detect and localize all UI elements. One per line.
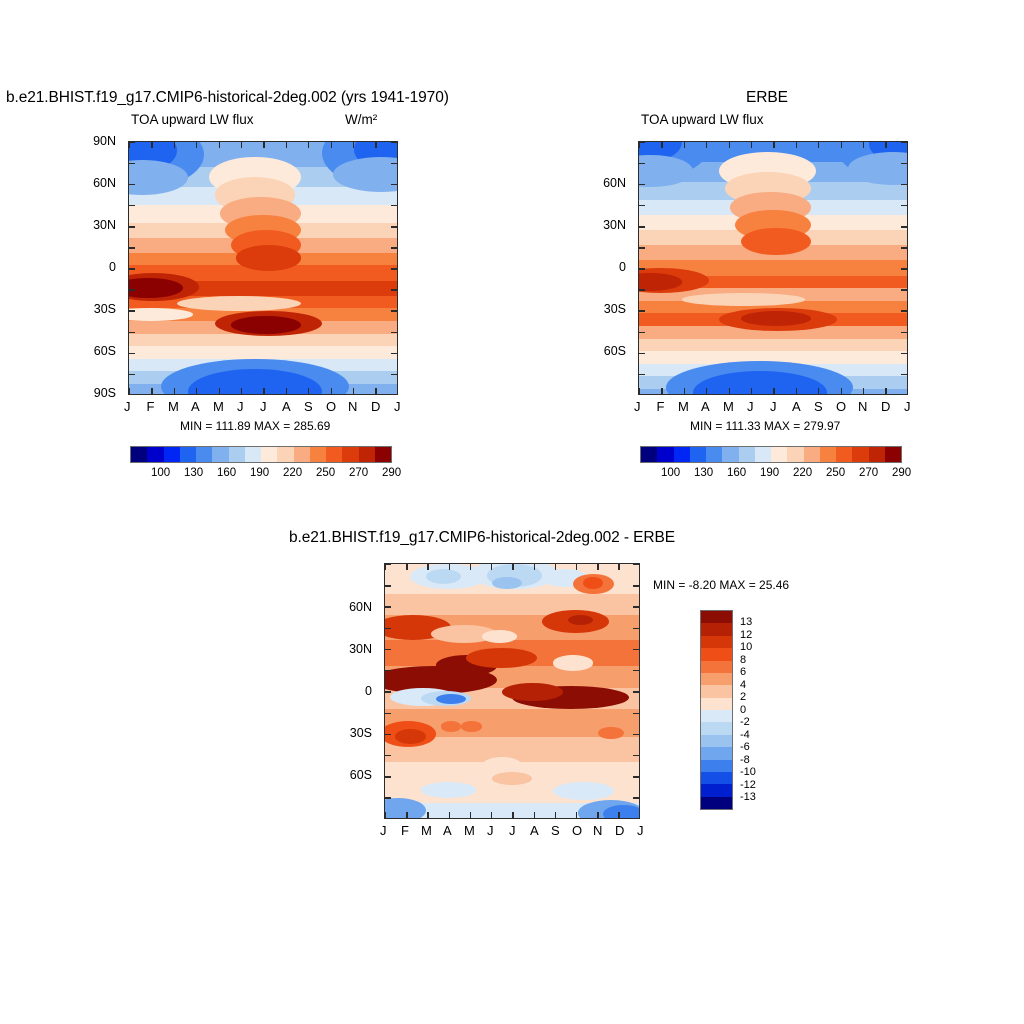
month-label: N (593, 823, 602, 838)
axis-tick (633, 734, 639, 735)
model-panel-title: b.e21.BHIST.f19_g17.CMIP6-historical-2de… (6, 89, 449, 107)
axis-tick (639, 289, 645, 290)
axis-tick (576, 812, 577, 818)
month-label: J (380, 823, 387, 838)
axis-tick (353, 388, 354, 394)
axis-tick (151, 142, 152, 148)
axis-tick (129, 268, 135, 269)
axis-tick (597, 564, 598, 570)
month-label: S (814, 399, 823, 414)
month-label: D (881, 399, 890, 414)
axis-tick (129, 163, 135, 164)
axis-tick (391, 332, 397, 333)
axis-tick (391, 184, 397, 185)
axis-tick (633, 713, 639, 714)
diff-ylabel: 30S (350, 726, 372, 740)
axis-tick (385, 649, 391, 650)
axis-tick (863, 388, 864, 394)
axis-tick (639, 268, 645, 269)
colorbar-tick-label: 100 (661, 467, 680, 479)
axis-tick (391, 310, 397, 311)
axis-tick (751, 388, 752, 394)
axis-tick (773, 388, 774, 394)
axis-tick (639, 163, 645, 164)
model-units-label: W/m² (345, 112, 377, 127)
axis-tick (391, 205, 397, 206)
diff-month-axis: J F M A M J J A S O N D J (384, 823, 640, 843)
axis-tick (385, 755, 391, 756)
axis-tick (773, 142, 774, 148)
obs-panel-subtitle: TOA upward LW flux (641, 112, 764, 127)
diff-minmax-text: MIN = -8.20 MAX = 25.46 (653, 578, 789, 592)
diff-ylabel: 60S (350, 768, 372, 782)
axis-tick (863, 142, 864, 148)
month-label: A (282, 399, 291, 414)
axis-tick (385, 628, 391, 629)
axis-tick (391, 226, 397, 227)
axis-tick (901, 289, 907, 290)
axis-tick (597, 812, 598, 818)
month-label: J (260, 399, 267, 414)
model-colorbar-labels: 100 130 160 190 220 250 270 290 (130, 467, 392, 483)
axis-tick (729, 388, 730, 394)
month-label: J (394, 399, 401, 414)
axis-tick (639, 353, 645, 354)
diff-colorbar (700, 610, 733, 810)
month-label: J (770, 399, 777, 414)
axis-tick (901, 184, 907, 185)
month-label: D (615, 823, 624, 838)
axis-tick (796, 142, 797, 148)
axis-tick (219, 142, 220, 148)
axis-tick (449, 812, 450, 818)
diff-colorbar-labels: 13 12 10 8 6 4 2 0 -2 -4 -6 -8 -10 -12 -… (740, 610, 780, 810)
colorbar-tick-label: 6 (740, 666, 746, 678)
month-label: F (657, 399, 665, 414)
axis-tick (633, 564, 639, 565)
axis-tick (576, 564, 577, 570)
axis-tick (512, 812, 513, 818)
axis-tick (375, 142, 376, 148)
axis-tick (470, 564, 471, 570)
month-label: S (551, 823, 560, 838)
obs-contour-plot (638, 141, 908, 395)
axis-tick (129, 388, 130, 394)
month-label: N (858, 399, 867, 414)
axis-tick (427, 564, 428, 570)
axis-tick (391, 374, 397, 375)
month-label: O (836, 399, 846, 414)
month-label: A (443, 823, 452, 838)
axis-tick (449, 564, 450, 570)
axis-tick (639, 184, 645, 185)
month-label: M (421, 823, 432, 838)
diff-ylabel: 30N (349, 642, 372, 656)
axis-tick (129, 226, 135, 227)
model-ylabel: 60N (93, 176, 116, 190)
month-label: A (701, 399, 710, 414)
axis-tick (639, 247, 645, 248)
model-ylabel: 90N (93, 134, 116, 148)
axis-tick (633, 670, 639, 671)
axis-tick (331, 388, 332, 394)
month-label: J (124, 399, 131, 414)
obs-ylabel: 60N (603, 176, 626, 190)
axis-tick (491, 564, 492, 570)
colorbar-tick-label: -10 (740, 766, 756, 778)
axis-tick (633, 585, 639, 586)
colorbar-tick-label: 12 (740, 629, 752, 641)
axis-tick (427, 812, 428, 818)
axis-tick (841, 142, 842, 148)
colorbar-tick-label: -8 (740, 754, 750, 766)
axis-tick (286, 142, 287, 148)
axis-tick (618, 812, 619, 818)
axis-tick (639, 374, 645, 375)
model-ylabel: 90S (94, 386, 116, 400)
month-label: A (530, 823, 539, 838)
axis-tick (174, 142, 175, 148)
axis-tick (129, 205, 135, 206)
axis-tick (639, 332, 645, 333)
colorbar-tick-label: 290 (892, 467, 911, 479)
colorbar-tick-label: 2 (740, 691, 746, 703)
axis-tick (385, 585, 391, 586)
axis-tick (406, 564, 407, 570)
obs-colorbar-labels: 100 130 160 190 220 250 270 290 (640, 467, 902, 483)
axis-tick (885, 388, 886, 394)
obs-panel-title: ERBE (746, 89, 788, 107)
axis-tick (391, 289, 397, 290)
colorbar-tick-label: 10 (740, 641, 752, 653)
colorbar-tick-label: 13 (740, 616, 752, 628)
month-label: J (747, 399, 754, 414)
axis-tick (129, 374, 135, 375)
colorbar-tick-label: -4 (740, 729, 750, 741)
colorbar-tick-label: 130 (184, 467, 203, 479)
axis-tick (512, 564, 513, 570)
axis-tick (534, 564, 535, 570)
axis-tick (308, 142, 309, 148)
axis-tick (639, 226, 645, 227)
axis-tick (385, 713, 391, 714)
axis-tick (385, 776, 391, 777)
obs-minmax-text: MIN = 111.33 MAX = 279.97 (690, 419, 840, 433)
obs-ylabel: 30S (604, 302, 626, 316)
diff-ylabel: 60N (349, 600, 372, 614)
axis-tick (633, 776, 639, 777)
axis-tick (196, 388, 197, 394)
axis-tick (241, 142, 242, 148)
axis-tick (385, 812, 386, 818)
month-label: M (168, 399, 179, 414)
axis-tick (706, 388, 707, 394)
obs-ylabel: 0 (619, 260, 626, 274)
axis-tick (751, 142, 752, 148)
axis-tick (633, 797, 639, 798)
colorbar-tick-label: 290 (382, 467, 401, 479)
axis-tick (391, 142, 397, 143)
diff-contour-field (385, 564, 639, 818)
axis-tick (263, 388, 264, 394)
model-ylabel: 30S (94, 302, 116, 316)
axis-tick (129, 247, 135, 248)
axis-tick (129, 332, 135, 333)
axis-tick (661, 388, 662, 394)
model-colorbar (130, 446, 392, 463)
month-label: D (371, 399, 380, 414)
axis-tick (901, 268, 907, 269)
axis-tick (555, 564, 556, 570)
colorbar-tick-label: -13 (740, 791, 756, 803)
colorbar-tick-label: 4 (740, 679, 746, 691)
axis-tick (633, 649, 639, 650)
month-label: S (304, 399, 313, 414)
axis-tick (331, 142, 332, 148)
colorbar-tick-label: 8 (740, 654, 746, 666)
axis-tick (375, 388, 376, 394)
axis-tick (263, 142, 264, 148)
axis-tick (385, 606, 391, 607)
month-label: O (572, 823, 582, 838)
model-y-axis: 90N 60N 30N 0 30S 60S 90S (88, 141, 128, 395)
month-label: F (147, 399, 155, 414)
axis-tick (391, 163, 397, 164)
axis-tick (286, 388, 287, 394)
month-label: M (678, 399, 689, 414)
obs-colorbar (640, 446, 902, 463)
axis-tick (129, 142, 135, 143)
obs-ylabel: 60S (604, 344, 626, 358)
axis-tick (841, 388, 842, 394)
month-label: J (487, 823, 494, 838)
axis-tick (129, 353, 135, 354)
colorbar-tick-label: -2 (740, 716, 750, 728)
axis-tick (219, 388, 220, 394)
month-label: M (213, 399, 224, 414)
month-label: J (904, 399, 911, 414)
axis-tick (639, 205, 645, 206)
colorbar-tick-label: 0 (740, 704, 746, 716)
axis-tick (633, 755, 639, 756)
month-label: O (326, 399, 336, 414)
colorbar-tick-label: 250 (316, 467, 335, 479)
model-ylabel: 60S (94, 344, 116, 358)
colorbar-tick-label: 130 (694, 467, 713, 479)
axis-tick (196, 142, 197, 148)
axis-tick (385, 734, 391, 735)
axis-tick (385, 670, 391, 671)
month-label: J (634, 399, 641, 414)
axis-tick (151, 388, 152, 394)
axis-tick (391, 268, 397, 269)
colorbar-tick-label: 190 (760, 467, 779, 479)
axis-tick (633, 628, 639, 629)
diff-panel-title: b.e21.BHIST.f19_g17.CMIP6-historical-2de… (289, 529, 675, 547)
colorbar-tick-label: 190 (250, 467, 269, 479)
axis-tick (639, 388, 640, 394)
axis-tick (129, 289, 135, 290)
axis-tick (901, 163, 907, 164)
axis-tick (129, 310, 135, 311)
axis-tick (174, 388, 175, 394)
axis-tick (470, 812, 471, 818)
month-label: M (464, 823, 475, 838)
axis-tick (901, 247, 907, 248)
axis-tick (129, 184, 135, 185)
month-label: A (792, 399, 801, 414)
model-panel-subtitle: TOA upward LW flux (131, 112, 254, 127)
axis-tick (796, 388, 797, 394)
axis-tick (633, 691, 639, 692)
colorbar-tick-label: 250 (826, 467, 845, 479)
axis-tick (639, 142, 645, 143)
model-minmax-text: MIN = 111.89 MAX = 285.69 (180, 419, 330, 433)
axis-tick (406, 812, 407, 818)
model-month-axis: J F M A M J J A S O N D J (128, 399, 398, 419)
axis-tick (633, 606, 639, 607)
axis-tick (241, 388, 242, 394)
axis-tick (901, 310, 907, 311)
month-label: J (637, 823, 644, 838)
axis-tick (385, 691, 391, 692)
colorbar-tick-label: 160 (727, 467, 746, 479)
model-ylabel: 0 (109, 260, 116, 274)
month-label: J (237, 399, 244, 414)
axis-tick (818, 142, 819, 148)
colorbar-tick-label: 160 (217, 467, 236, 479)
axis-tick (901, 374, 907, 375)
axis-tick (385, 797, 391, 798)
colorbar-tick-label: 100 (151, 467, 170, 479)
obs-ylabel: 30N (603, 218, 626, 232)
axis-tick (684, 142, 685, 148)
month-label: F (401, 823, 409, 838)
axis-tick (818, 388, 819, 394)
axis-tick (308, 388, 309, 394)
obs-month-axis: J F M A M J J A S O N D J (638, 399, 908, 419)
axis-tick (901, 205, 907, 206)
axis-tick (618, 564, 619, 570)
diff-contour-plot (384, 563, 640, 819)
axis-tick (684, 388, 685, 394)
axis-tick (885, 142, 886, 148)
colorbar-tick-label: 220 (793, 467, 812, 479)
axis-tick (901, 226, 907, 227)
month-label: A (191, 399, 200, 414)
month-label: M (723, 399, 734, 414)
axis-tick (639, 310, 645, 311)
colorbar-tick-label: 270 (859, 467, 878, 479)
axis-tick (353, 142, 354, 148)
axis-tick (555, 812, 556, 818)
axis-tick (391, 247, 397, 248)
axis-tick (901, 353, 907, 354)
month-label: N (348, 399, 357, 414)
axis-tick (391, 353, 397, 354)
model-contour-field (129, 142, 397, 394)
obs-contour-field (639, 142, 907, 394)
diff-ylabel: 0 (365, 684, 372, 698)
colorbar-tick-label: -6 (740, 741, 750, 753)
colorbar-tick-label: 220 (283, 467, 302, 479)
axis-tick (534, 812, 535, 818)
diff-y-axis: 60N 30N 0 30S 60S (344, 563, 384, 819)
axis-tick (706, 142, 707, 148)
month-label: J (509, 823, 516, 838)
axis-tick (491, 812, 492, 818)
model-ylabel: 30N (93, 218, 116, 232)
axis-tick (661, 142, 662, 148)
axis-tick (729, 142, 730, 148)
colorbar-tick-label: 270 (349, 467, 368, 479)
axis-tick (901, 142, 907, 143)
colorbar-tick-label: -12 (740, 779, 756, 791)
model-contour-plot (128, 141, 398, 395)
axis-tick (385, 564, 391, 565)
axis-tick (901, 332, 907, 333)
obs-y-axis: 60N 30N 0 30S 60S (598, 141, 638, 395)
